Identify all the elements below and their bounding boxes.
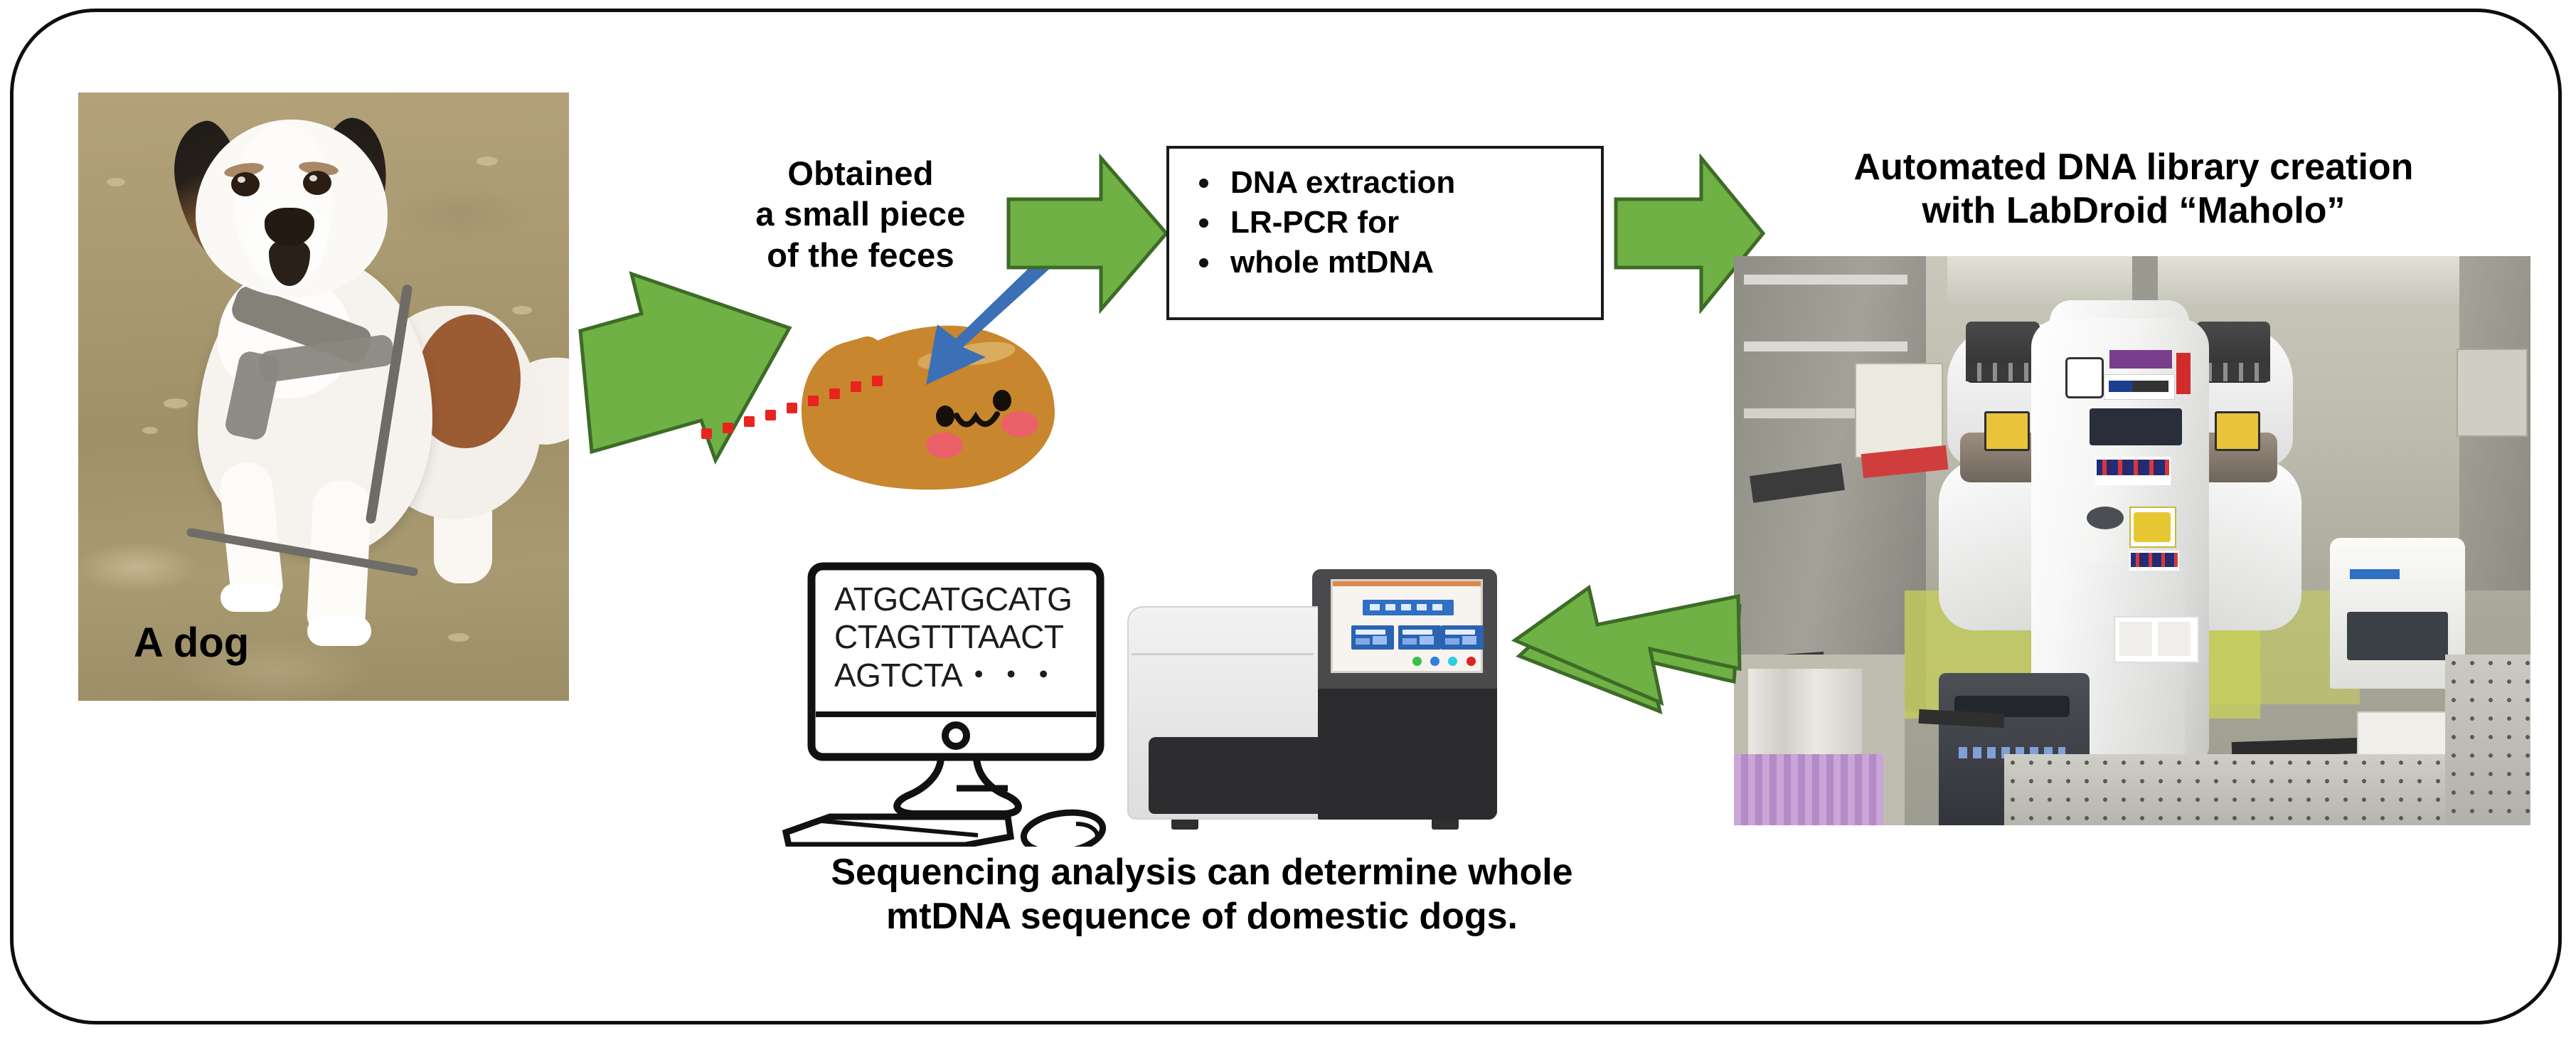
sequence-line-3: AGTCTA・・・ [834, 657, 1069, 694]
sequencing-caption-line-2: mtDNA sequence of domestic dogs. [676, 894, 1728, 938]
cut-line-dot [851, 381, 861, 392]
robot-sticker-yellow [2129, 507, 2176, 548]
cut-line-dot [787, 403, 797, 413]
sequencer-base-dot-blue [1430, 657, 1439, 666]
computer-illustration: ATGCATGCATG CTAGTTTAACT AGTCTA・・・ [779, 562, 1149, 847]
cut-line-dot [829, 388, 840, 399]
sequencer-screen-header-bar[interactable] [1363, 600, 1454, 615]
monitor-power-indicator [945, 725, 967, 746]
sequencer-foot-right [1432, 820, 1459, 830]
sequencing-caption-line-1: Sequencing analysis can determine whole [676, 850, 1728, 894]
instrument-screen [2347, 612, 2448, 660]
lab-perforated-bench [2445, 655, 2530, 825]
dog-eye-left [231, 172, 260, 196]
cut-line-dot [701, 428, 712, 439]
cut-line-dot [744, 416, 755, 427]
sequencer-base-dot-green [1412, 657, 1422, 666]
protocol-step-item: DNA extraction [1193, 164, 1601, 201]
feces-illustration [775, 306, 1074, 519]
sequencer-screen-titlebar [1333, 581, 1481, 586]
robot-yellow-module-left [1984, 411, 2030, 451]
dog-paw-right [307, 616, 371, 646]
robot-sticker-pair [2114, 616, 2199, 663]
sequencer-right-lower [1312, 689, 1497, 820]
obtained-line-1: Obtained [711, 153, 1010, 194]
cut-line-dot [808, 396, 819, 406]
arrow-feces-to-steps-icon [1006, 154, 1169, 314]
sequencer-base-dot-cyan [1448, 657, 1457, 666]
keyboard-icon[interactable] [786, 817, 1011, 845]
purple-tube-rack [1734, 754, 1883, 825]
protocol-step-item: LR-PCR for [1193, 204, 1601, 241]
instrument-logo [2350, 569, 2400, 579]
protocol-steps-box: DNA extraction LR-PCR for whole mtDNA [1166, 146, 1604, 320]
robot-sticker-flask [2065, 357, 2104, 398]
cut-line-dot [765, 410, 776, 420]
sequencer-seam [1132, 653, 1314, 655]
labdroid-maholo-photo [1734, 256, 2530, 825]
robot-sticker-idt [2104, 374, 2175, 400]
sequencer-base-dot-red [1467, 657, 1476, 666]
dog-eye-highlight-left [238, 176, 245, 183]
rack-shelf [1744, 341, 1907, 351]
cut-line-dot [723, 423, 733, 433]
feces-cheek-left [926, 433, 963, 458]
cut-line-dot [872, 376, 883, 386]
figure-canvas: A dog Obtained a small piece of the fece… [0, 0, 2576, 1038]
obtained-feces-label: Obtained a small piece of the feces [711, 153, 1010, 275]
arrow-robot-to-sequencer-icon [1508, 583, 1742, 783]
robot-yellow-module-right [2215, 411, 2260, 451]
rack-shelf [1744, 275, 1907, 285]
rack-right-box [2457, 349, 2528, 437]
rack-document-panel [1855, 363, 1943, 458]
robot-sticker-illumina [2095, 457, 2171, 485]
lab-ceiling [1947, 256, 2488, 306]
robot-sticker-red [2176, 353, 2191, 394]
sequencer-drawer [1149, 737, 1319, 814]
labdroid-title-line-1: Automated DNA library creation [1728, 146, 2539, 189]
sequence-line-2: CTAGTTTAACT [834, 618, 1069, 656]
robot-sticker-oval [2087, 507, 2124, 529]
sequencer-screen-panel[interactable] [1441, 625, 1484, 650]
dog-eye-highlight-right [309, 175, 317, 181]
dog-photo-caption: A dog [134, 623, 249, 664]
sequencer-screen-panel[interactable] [1398, 625, 1441, 650]
obtained-line-2: a small piece [711, 194, 1010, 234]
dog-photo: A dog [78, 92, 569, 701]
labdroid-title-line-2: with LabDroid “Maholo” [1728, 189, 2539, 233]
robot-panel-dark [2090, 408, 2182, 445]
dog-paw-left [220, 583, 280, 612]
sequencing-caption: Sequencing analysis can determine whole … [676, 850, 1728, 939]
dog-eye-right [303, 171, 331, 195]
protocol-steps-list: DNA extraction LR-PCR for whole mtDNA [1169, 149, 1601, 281]
sequencer-touchscreen [1331, 579, 1483, 673]
monitor-sequence-text: ATGCATGCATG CTAGTTTAACT AGTCTA・・・ [834, 581, 1069, 694]
robot-gripper-fingers-left [1966, 363, 2040, 381]
sequence-line-1: ATGCATGCATG [834, 581, 1069, 618]
robot-sticker-illumina-small [2129, 551, 2179, 571]
sequencer-machine [1127, 569, 1497, 840]
sequencer-foot-left [1171, 820, 1198, 830]
labdroid-title: Automated DNA library creation with LabD… [1728, 146, 2539, 233]
protocol-step-continuation: whole mtDNA [1193, 244, 1601, 281]
robot-sticker-purple [2109, 350, 2172, 369]
sequencer-screen-panel[interactable] [1351, 625, 1394, 650]
